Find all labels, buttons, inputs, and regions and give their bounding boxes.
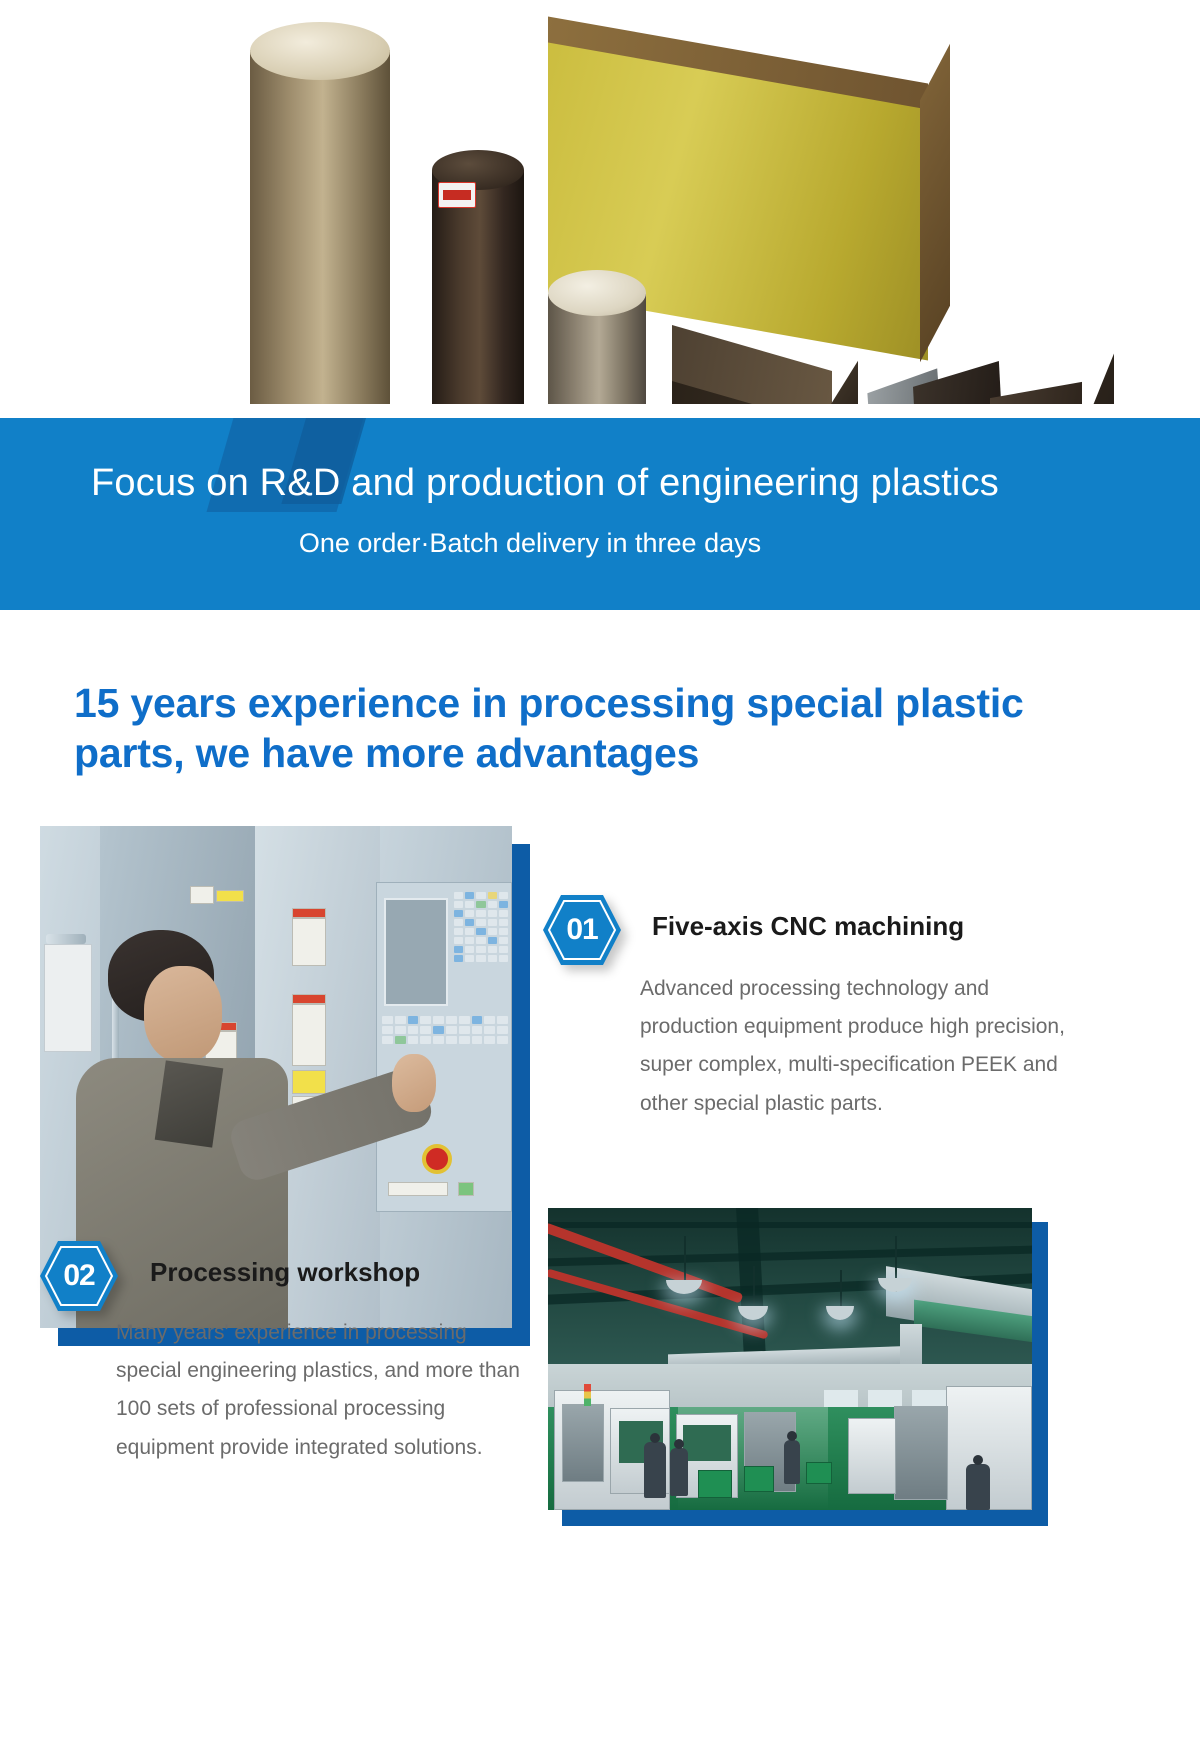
- cnc-key[interactable]: [499, 946, 508, 953]
- section-heading: 15 years experience in processing specia…: [74, 678, 1084, 778]
- cnc-key[interactable]: [488, 928, 497, 935]
- cnc-key[interactable]: [472, 1036, 483, 1044]
- cnc-key[interactable]: [488, 901, 497, 908]
- workshop-photo-frame-bottom-bar: [562, 1510, 1048, 1526]
- cnc-key[interactable]: [497, 1016, 508, 1024]
- cnc-key[interactable]: [382, 1026, 393, 1034]
- cnc-key[interactable]: [465, 937, 474, 944]
- cnc-key[interactable]: [476, 946, 485, 953]
- cnc-key[interactable]: [446, 1026, 457, 1034]
- lamp-shade: [666, 1280, 702, 1294]
- workshop-machine: [562, 1404, 604, 1482]
- cnc-keypad-main: [454, 892, 508, 962]
- cnc-key[interactable]: [395, 1026, 406, 1034]
- cnc-key[interactable]: [476, 901, 485, 908]
- cnc-key[interactable]: [454, 892, 463, 899]
- workshop-photo-frame-right-bar: [1032, 1222, 1048, 1526]
- cnc-key[interactable]: [499, 892, 508, 899]
- workshop-worker: [966, 1464, 990, 1510]
- banner-title: Focus on R&D and production of engineeri…: [0, 464, 1090, 502]
- cnc-emergency-stop-button[interactable]: [422, 1144, 452, 1174]
- cnc-key[interactable]: [465, 901, 474, 908]
- cnc-key[interactable]: [476, 928, 485, 935]
- feature-badge-01-number: 01: [541, 893, 623, 967]
- cnc-key[interactable]: [488, 919, 497, 926]
- feature-body-02: Many years' experience in processing spe…: [116, 1314, 526, 1467]
- cnc-key[interactable]: [465, 955, 474, 962]
- workshop-beam: [548, 1222, 1032, 1228]
- cnc-hazard-sticker: [292, 1070, 326, 1094]
- cnc-screen: [384, 898, 448, 1006]
- workshop-machine: [848, 1418, 896, 1494]
- cnc-key[interactable]: [488, 892, 497, 899]
- cnc-key[interactable]: [433, 1026, 444, 1034]
- cnc-key[interactable]: [465, 946, 474, 953]
- cnc-key[interactable]: [420, 1026, 431, 1034]
- cnc-key[interactable]: [408, 1036, 419, 1044]
- workshop-cart: [806, 1462, 832, 1484]
- cnc-key[interactable]: [446, 1036, 457, 1044]
- workshop-worker: [644, 1442, 666, 1498]
- cnc-key[interactable]: [499, 919, 508, 926]
- hero-product-collage: [0, 0, 1200, 420]
- cnc-key[interactable]: [465, 910, 474, 917]
- cnc-document-clip: [46, 934, 86, 944]
- workshop-lamp: [826, 1270, 854, 1320]
- cnc-key[interactable]: [488, 946, 497, 953]
- workshop-worker: [670, 1448, 688, 1496]
- workshop-signal-tower: [584, 1384, 591, 1406]
- feature-badge-02-number: 02: [38, 1239, 120, 1313]
- cnc-key[interactable]: [433, 1016, 444, 1024]
- cnc-key[interactable]: [454, 955, 463, 962]
- product-light-rod: [548, 270, 646, 420]
- product-tan-rod-large: [250, 22, 390, 420]
- feature-badge-01: 01: [541, 893, 623, 967]
- cnc-key[interactable]: [454, 937, 463, 944]
- cnc-key[interactable]: [446, 1016, 457, 1024]
- cnc-key[interactable]: [408, 1016, 419, 1024]
- cnc-key[interactable]: [472, 1026, 483, 1034]
- workshop-lamp: [666, 1236, 702, 1294]
- cnc-key[interactable]: [382, 1036, 393, 1044]
- cnc-key[interactable]: [454, 928, 463, 935]
- cnc-key[interactable]: [382, 1016, 393, 1024]
- cnc-key[interactable]: [420, 1036, 431, 1044]
- cnc-key[interactable]: [497, 1026, 508, 1034]
- cnc-key[interactable]: [488, 955, 497, 962]
- workshop-lamp: [878, 1236, 912, 1292]
- worker-head-icon: [674, 1439, 684, 1449]
- cnc-photo-frame-right-bar: [512, 844, 530, 1346]
- cnc-key[interactable]: [499, 937, 508, 944]
- feature-badge-02: 02: [38, 1239, 120, 1313]
- cnc-key[interactable]: [484, 1026, 495, 1034]
- cnc-key[interactable]: [476, 892, 485, 899]
- cnc-key[interactable]: [476, 937, 485, 944]
- cnc-key[interactable]: [465, 892, 474, 899]
- cnc-panel-label: [388, 1182, 448, 1196]
- cnc-key[interactable]: [472, 1016, 483, 1024]
- feature-title-01: Five-axis CNC machining: [652, 913, 964, 939]
- cnc-key[interactable]: [499, 928, 508, 935]
- cnc-posted-document: [44, 944, 92, 1052]
- feature-title-02: Processing workshop: [150, 1259, 420, 1285]
- workshop-cart: [698, 1470, 732, 1498]
- workshop-lamp: [738, 1266, 768, 1320]
- product-detail-page: Focus on R&D and production of engineeri…: [0, 0, 1200, 1752]
- cnc-door-sticker-yellow: [216, 890, 244, 902]
- workshop-cart: [744, 1466, 774, 1492]
- cnc-key[interactable]: [499, 910, 508, 917]
- workshop-worker: [784, 1440, 800, 1484]
- cnc-key[interactable]: [499, 955, 508, 962]
- worker-head-icon: [787, 1431, 797, 1441]
- cnc-key[interactable]: [465, 919, 474, 926]
- cnc-key[interactable]: [454, 901, 463, 908]
- feature-body-01: Advanced processing technology and produ…: [640, 970, 1070, 1123]
- cnc-key[interactable]: [499, 901, 508, 908]
- workshop-machine-window: [683, 1425, 731, 1461]
- cnc-keypad-lower: [382, 1016, 508, 1044]
- cnc-door-sticker-white: [190, 886, 214, 904]
- worker-hand: [392, 1054, 436, 1112]
- worker-collar: [155, 1060, 224, 1147]
- banner-subtitle: One order·Batch delivery in three days: [0, 530, 1060, 557]
- cnc-warning-sticker-top: [292, 908, 326, 918]
- product-collage-stage: [0, 0, 1200, 420]
- product-label-sticker: [438, 182, 476, 208]
- worker-head-icon: [973, 1455, 983, 1465]
- cnc-key[interactable]: [465, 928, 474, 935]
- cnc-key[interactable]: [420, 1016, 431, 1024]
- cnc-key[interactable]: [459, 1026, 470, 1034]
- cnc-key[interactable]: [476, 910, 485, 917]
- cnc-instruction-sticker-1: [292, 918, 326, 966]
- cnc-key[interactable]: [476, 955, 485, 962]
- cnc-key[interactable]: [454, 919, 463, 926]
- cnc-key[interactable]: [488, 937, 497, 944]
- cnc-key[interactable]: [459, 1016, 470, 1024]
- cnc-status-indicator: [458, 1182, 474, 1196]
- product-dark-rod: [432, 150, 524, 420]
- cnc-key[interactable]: [484, 1016, 495, 1024]
- cnc-instruction-sticker-2: [292, 1004, 326, 1066]
- worker-face: [144, 966, 222, 1062]
- workshop-photo: [548, 1208, 1032, 1510]
- worker-head-icon: [650, 1433, 660, 1443]
- lamp-shade: [878, 1278, 912, 1292]
- cnc-key[interactable]: [395, 1036, 406, 1044]
- lamp-shade: [738, 1306, 768, 1320]
- cnc-key[interactable]: [497, 1036, 508, 1044]
- workshop-photo-frame: [548, 1208, 1048, 1526]
- cnc-key[interactable]: [484, 1036, 495, 1044]
- cnc-key[interactable]: [488, 910, 497, 917]
- cnc-key[interactable]: [454, 946, 463, 953]
- cnc-warning-sticker-mid: [292, 994, 326, 1004]
- cnc-key[interactable]: [408, 1026, 419, 1034]
- tagline-banner: Focus on R&D and production of engineeri…: [0, 418, 1200, 610]
- lamp-shade: [826, 1306, 854, 1320]
- cnc-key[interactable]: [476, 919, 485, 926]
- workshop-machine: [894, 1406, 948, 1500]
- cnc-key[interactable]: [395, 1016, 406, 1024]
- cnc-key[interactable]: [433, 1036, 444, 1044]
- cnc-key[interactable]: [459, 1036, 470, 1044]
- cnc-key[interactable]: [454, 910, 463, 917]
